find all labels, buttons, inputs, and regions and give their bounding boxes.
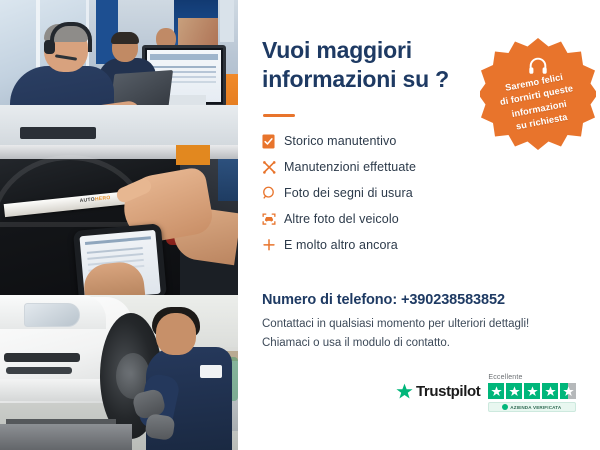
car-grille-upper xyxy=(4,353,80,362)
content-panel: Vuoi maggiori informazioni su ? Saremo f… xyxy=(238,0,600,450)
uniform-badge xyxy=(200,365,222,378)
trustpilot-rating-label: Eccellente xyxy=(488,374,522,381)
checklist-document-icon xyxy=(262,134,284,149)
feature-label: Foto dei segni di usura xyxy=(284,186,413,200)
rating-star-1 xyxy=(488,383,504,399)
feature-item-altre-foto-veicolo: Altre foto del veicolo xyxy=(262,206,562,232)
feature-label: E molto altro ancora xyxy=(284,238,398,252)
verified-company-label: AZIENDA VERIFICATA xyxy=(510,405,561,410)
contact-subtext-line-2: Chiamaci o usa il modulo di contatto. xyxy=(262,337,450,349)
trustpilot-star-row xyxy=(488,383,576,399)
orange-background-object xyxy=(176,145,210,165)
trustpilot-widget[interactable]: Trustpilot Eccellente xyxy=(396,374,576,412)
car-headlight xyxy=(24,303,80,327)
second-agent-hair xyxy=(111,32,139,44)
mechanic-head xyxy=(156,313,196,355)
feature-item-foto-segni-usura: Foto dei segni di usura xyxy=(262,180,562,206)
wall-poster xyxy=(178,18,218,46)
wall-panel xyxy=(220,0,234,42)
headset-band xyxy=(50,22,92,52)
promo-card: AUTOHERO xyxy=(0,0,600,450)
feature-label: Altre foto del veicolo xyxy=(284,212,399,226)
page-title-line-1: Vuoi maggiori xyxy=(262,36,472,65)
feature-list: Storico manutentivo Manutenzioni effettu… xyxy=(262,128,562,258)
trustpilot-logo: Trustpilot xyxy=(396,383,480,400)
call-center-agents-photo xyxy=(0,0,238,145)
car-lift-platform xyxy=(0,424,132,450)
mechanic-wheel-inspection-photo xyxy=(0,295,238,450)
plus-icon xyxy=(262,238,284,252)
mechanic-glove-lower xyxy=(144,413,175,441)
headset-earcup xyxy=(44,40,55,54)
keyboard xyxy=(20,127,96,139)
star-icon xyxy=(396,383,413,400)
feature-item-manutenzioni-effettuate: Manutenzioni effettuate xyxy=(262,154,562,180)
page-title: Vuoi maggiori informazioni su ? xyxy=(262,36,472,94)
verified-company-badge: AZIENDA VERIFICATA xyxy=(488,402,576,412)
feature-item-molto-altro: E molto altro ancora xyxy=(262,232,562,258)
car-bumper xyxy=(0,379,110,401)
photo-column: AUTOHERO xyxy=(0,0,238,450)
car-scan-frame-icon xyxy=(262,212,284,226)
rating-star-5-half xyxy=(560,383,576,399)
trustpilot-wordmark: Trustpilot xyxy=(416,383,480,400)
feature-label: Storico manutentivo xyxy=(284,134,396,148)
ruler-brand-label: AUTOHERO xyxy=(79,195,110,204)
contact-subtext-line-1: Contattaci in qualsiasi momento per ulte… xyxy=(262,318,529,330)
page-title-line-2: informazioni su ? xyxy=(262,65,472,94)
front-desk xyxy=(0,105,238,145)
car-damage-measure-photo: AUTOHERO xyxy=(0,145,238,295)
feature-label: Manutenzioni effettuate xyxy=(284,160,416,174)
magnifier-icon xyxy=(262,186,284,200)
phone-number-line: Numero di telefono: +390238583852 xyxy=(262,292,505,308)
title-underline-rule xyxy=(263,114,295,117)
rating-star-4 xyxy=(542,383,558,399)
rating-star-2 xyxy=(506,383,522,399)
rating-star-3 xyxy=(524,383,540,399)
crossed-tools-icon xyxy=(262,160,284,175)
trustpilot-rating: Eccellente xyxy=(488,374,576,412)
verified-check-icon xyxy=(502,404,508,410)
car-grille-lower xyxy=(6,367,72,374)
feature-item-storico-manutentivo: Storico manutentivo xyxy=(262,128,562,154)
